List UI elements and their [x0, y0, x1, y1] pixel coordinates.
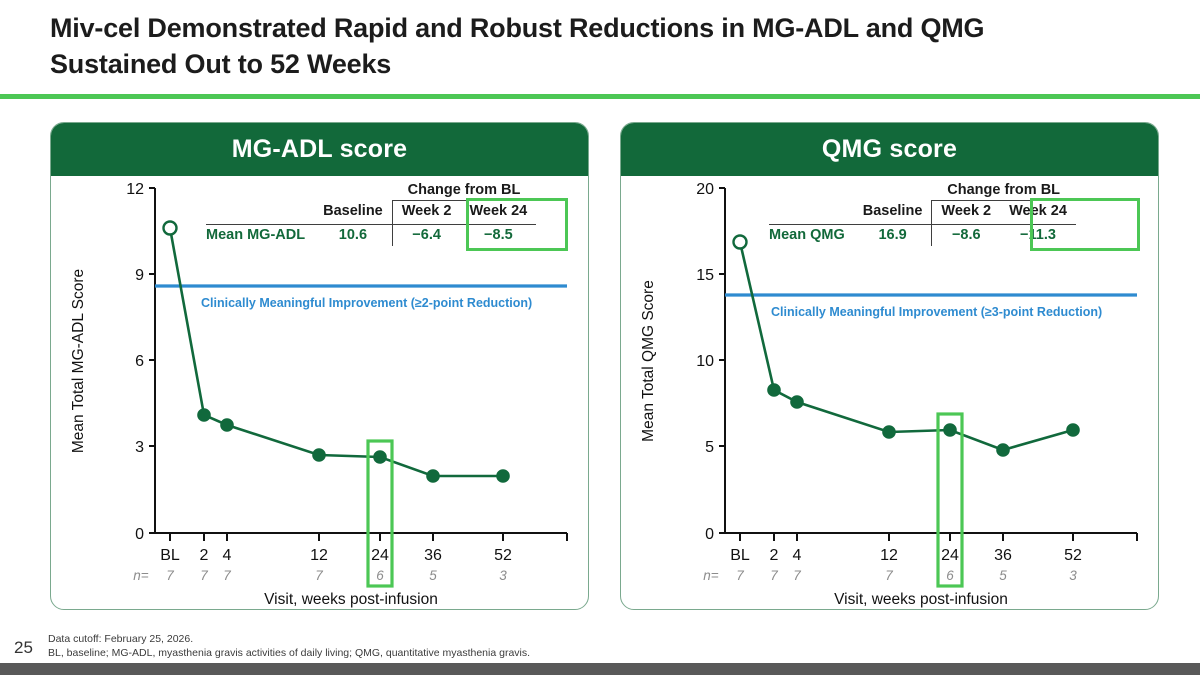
- x-tick-label: 24: [941, 547, 959, 564]
- data-point: [767, 383, 781, 397]
- table-header-week2: Week 2: [392, 201, 461, 224]
- y-tick-label: 12: [126, 181, 144, 198]
- data-point: [882, 425, 896, 439]
- data-point: [1066, 423, 1080, 437]
- n-row-mgadl: n= 7 7 7 7 6 5 3: [133, 568, 507, 583]
- table-header-week24: Week 24: [460, 201, 536, 224]
- chart-card-qmg: QMG score 20 15 10 5 0 Mean Total QM: [620, 122, 1159, 610]
- y-axis-ticks-qmg: 20 15 10 5 0: [696, 181, 725, 543]
- chart-card-mgadl: MG-ADL score 12 9 6 3 0: [50, 122, 589, 610]
- threshold-label-mgadl: Clinically Meaningful Improvement (≥2-po…: [201, 296, 532, 310]
- table-value-baseline: 10.6: [314, 224, 392, 246]
- chart-header-qmg: QMG score: [621, 123, 1158, 176]
- n-value: 7: [200, 568, 208, 583]
- footnote: Data cutoff: February 25, 2026. BL, base…: [48, 632, 948, 660]
- n-value: 3: [499, 568, 507, 583]
- y-axis-title-qmg: Mean Total QMG Score: [640, 280, 657, 442]
- y-tick-label: 6: [135, 353, 144, 370]
- table-header-change: Change from BL: [931, 180, 1076, 201]
- n-row-label: n=: [133, 568, 149, 583]
- data-point: [790, 395, 804, 409]
- summary-table-qmg: Change from BL Baseline Week 2 Week 24 M…: [769, 180, 1076, 246]
- table-value-baseline: 16.9: [854, 224, 932, 246]
- n-value: 7: [223, 568, 231, 583]
- n-value: 7: [793, 568, 801, 583]
- y-tick-label: 0: [135, 526, 144, 543]
- y-tick-label: 15: [696, 267, 714, 284]
- chart-header-mgadl: MG-ADL score: [51, 123, 588, 176]
- x-tick-label: BL: [730, 547, 750, 564]
- y-tick-label: 10: [696, 353, 714, 370]
- y-tick-label: 0: [705, 526, 714, 543]
- page-number: 25: [14, 638, 33, 658]
- data-point: [197, 408, 211, 422]
- x-tick-label: 12: [880, 547, 898, 564]
- table-header-baseline: Baseline: [854, 201, 932, 224]
- data-point: [943, 423, 957, 437]
- data-line-qmg: [740, 242, 1073, 450]
- n-value: 6: [946, 568, 954, 583]
- n-value: 7: [736, 568, 744, 583]
- x-axis-labels-qmg: BL 2 4 12 24 36 52: [730, 547, 1082, 564]
- table-value-week24: −8.5: [460, 224, 536, 246]
- n-value: 7: [166, 568, 174, 583]
- data-point: [496, 469, 510, 483]
- x-axis-labels-mgadl: BL 2 4 12 24 36 52: [160, 547, 512, 564]
- summary-table-mgadl: Change from BL Baseline Week 2 Week 24 M…: [206, 180, 536, 246]
- y-tick-label: 3: [135, 439, 144, 456]
- x-tick-label: 12: [310, 547, 328, 564]
- n-value: 3: [1069, 568, 1077, 583]
- table-header-week24: Week 24: [1000, 201, 1076, 224]
- plot-area-qmg: 20 15 10 5 0 Mean Total QMG Score Clinic…: [621, 176, 1158, 610]
- table-header-change: Change from BL: [392, 180, 537, 201]
- data-point: [220, 418, 234, 432]
- table-row-label: Mean MG-ADL: [206, 224, 314, 246]
- table-header-week2: Week 2: [931, 201, 1000, 224]
- x-tick-label: BL: [160, 547, 180, 564]
- table-row-label: Mean QMG: [769, 224, 854, 246]
- x-tick-label: 2: [770, 547, 779, 564]
- x-tick-label: 36: [424, 547, 442, 564]
- page-title: Miv-cel Demonstrated Rapid and Robust Re…: [50, 10, 1110, 82]
- data-point-baseline: [164, 222, 177, 235]
- n-value: 5: [999, 568, 1007, 583]
- data-point: [373, 450, 387, 464]
- x-axis-title-mgadl: Visit, weeks post-infusion: [264, 591, 438, 608]
- table-value-week2: −6.4: [392, 224, 461, 246]
- n-value: 6: [376, 568, 384, 583]
- data-point: [996, 443, 1010, 457]
- x-axis-title-qmg: Visit, weeks post-infusion: [834, 591, 1008, 608]
- data-point-baseline: [734, 236, 747, 249]
- data-point: [312, 448, 326, 462]
- data-markers-qmg: [734, 236, 1080, 457]
- x-tick-label: 52: [1064, 547, 1082, 564]
- data-point: [426, 469, 440, 483]
- n-value: 7: [770, 568, 778, 583]
- plot-area-mgadl: 12 9 6 3 0 Mean Total MG-ADL Score Clini…: [51, 176, 588, 610]
- footnote-line-2: BL, baseline; MG-ADL, myasthenia gravis …: [48, 646, 948, 660]
- x-tick-label: 36: [994, 547, 1012, 564]
- n-row-qmg: n= 7 7 7 7 6 5 3: [703, 568, 1077, 583]
- n-value: 7: [885, 568, 893, 583]
- title-accent-bar: [0, 94, 1200, 99]
- x-tick-label: 2: [200, 547, 209, 564]
- threshold-label-qmg: Clinically Meaningful Improvement (≥3-po…: [771, 305, 1102, 319]
- footnote-line-1: Data cutoff: February 25, 2026.: [48, 632, 948, 646]
- x-tick-label: 52: [494, 547, 512, 564]
- y-tick-label: 9: [135, 267, 144, 284]
- y-axis-ticks-mgadl: 12 9 6 3 0: [126, 181, 155, 543]
- x-tick-label: 24: [371, 547, 389, 564]
- footer-bar: [0, 663, 1200, 675]
- y-tick-label: 5: [705, 439, 714, 456]
- y-axis-title-mgadl: Mean Total MG-ADL Score: [70, 269, 87, 453]
- table-value-week2: −8.6: [931, 224, 1000, 246]
- x-tick-label: 4: [223, 547, 232, 564]
- y-tick-label: 20: [696, 181, 714, 198]
- x-tick-label: 4: [793, 547, 802, 564]
- n-value: 7: [315, 568, 323, 583]
- n-row-label: n=: [703, 568, 719, 583]
- n-value: 5: [429, 568, 437, 583]
- data-markers-mgadl: [164, 222, 510, 483]
- slide: Miv-cel Demonstrated Rapid and Robust Re…: [0, 0, 1200, 675]
- table-value-week24: −11.3: [1000, 224, 1076, 246]
- data-line-mgadl: [170, 228, 503, 476]
- table-header-baseline: Baseline: [314, 201, 392, 224]
